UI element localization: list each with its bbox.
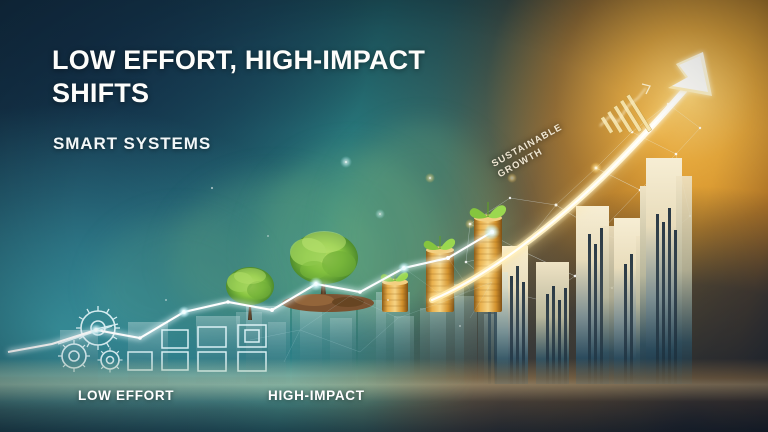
footer-label-high-impact: HIGH-IMPACT: [268, 388, 365, 403]
footer-label-low-effort: LOW EFFORT: [78, 388, 174, 403]
page-subtitle: SMART SYSTEMS: [53, 134, 211, 154]
page-title: LOW EFFORT, HIGH-IMPACT SHIFTS: [52, 44, 452, 110]
poster-canvas: LOW EFFORT, HIGH-IMPACT SHIFTS SMART SYS…: [0, 0, 768, 432]
